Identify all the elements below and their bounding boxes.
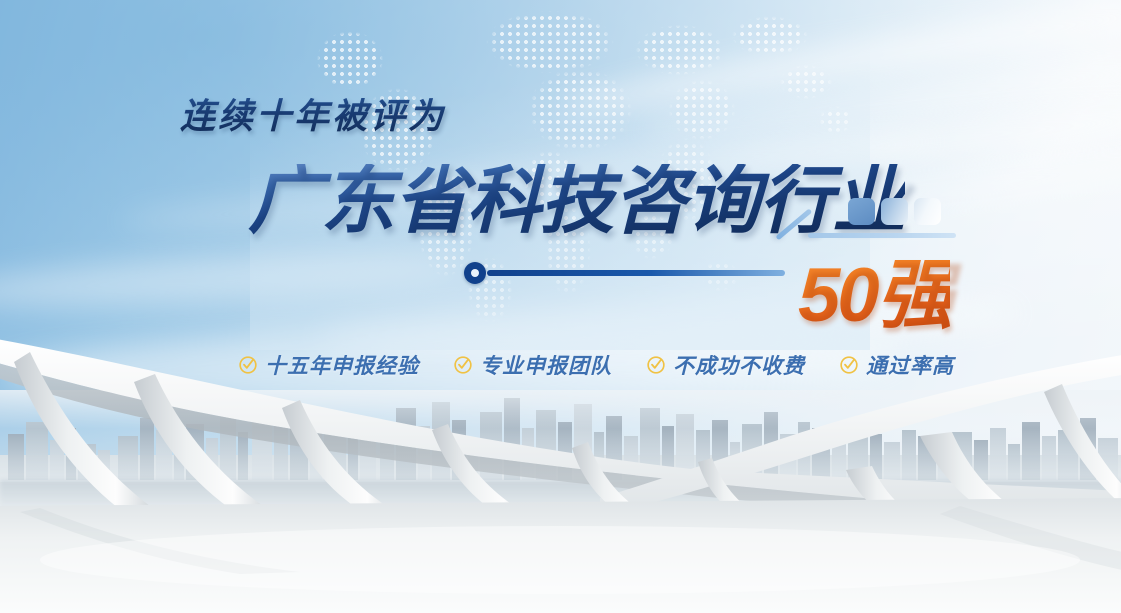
decor-square-gradient-blue [881, 198, 908, 225]
eyebrow-text: 连续十年被评为 [180, 88, 446, 139]
badge-50-strong: 50强 [798, 258, 950, 334]
feature-item: 专业申报团队 [453, 350, 612, 380]
feature-item: 不成功不收费 [646, 350, 805, 380]
connector-line-upper [808, 233, 956, 238]
feature-label: 十五年申报经验 [265, 350, 419, 380]
check-circle-icon [238, 355, 258, 375]
check-circle-icon [646, 355, 666, 375]
feature-list: 十五年申报经验 专业申报团队 不成功不收费 通过率高 [238, 350, 954, 380]
feature-label: 专业申报团队 [480, 350, 612, 380]
decor-square-solid-blue [848, 198, 875, 225]
feature-item: 通过率高 [839, 350, 954, 380]
connector-line-lower [487, 270, 785, 276]
headline-text: 广东省科技咨询行业 [248, 164, 905, 238]
atmospheric-haze [0, 390, 1121, 482]
decor-square-white [914, 198, 941, 225]
connector-dot-icon [464, 262, 486, 284]
check-circle-icon [453, 355, 473, 375]
feature-label: 不成功不收费 [673, 350, 805, 380]
check-circle-icon [839, 355, 859, 375]
feature-label: 通过率高 [866, 350, 954, 380]
decor-squares [848, 198, 941, 225]
feature-item: 十五年申报经验 [238, 350, 419, 380]
promo-banner: 连续十年被评为 广东省科技咨询行业 50强 十五年申报经验 专业申报团队 [0, 0, 1121, 613]
